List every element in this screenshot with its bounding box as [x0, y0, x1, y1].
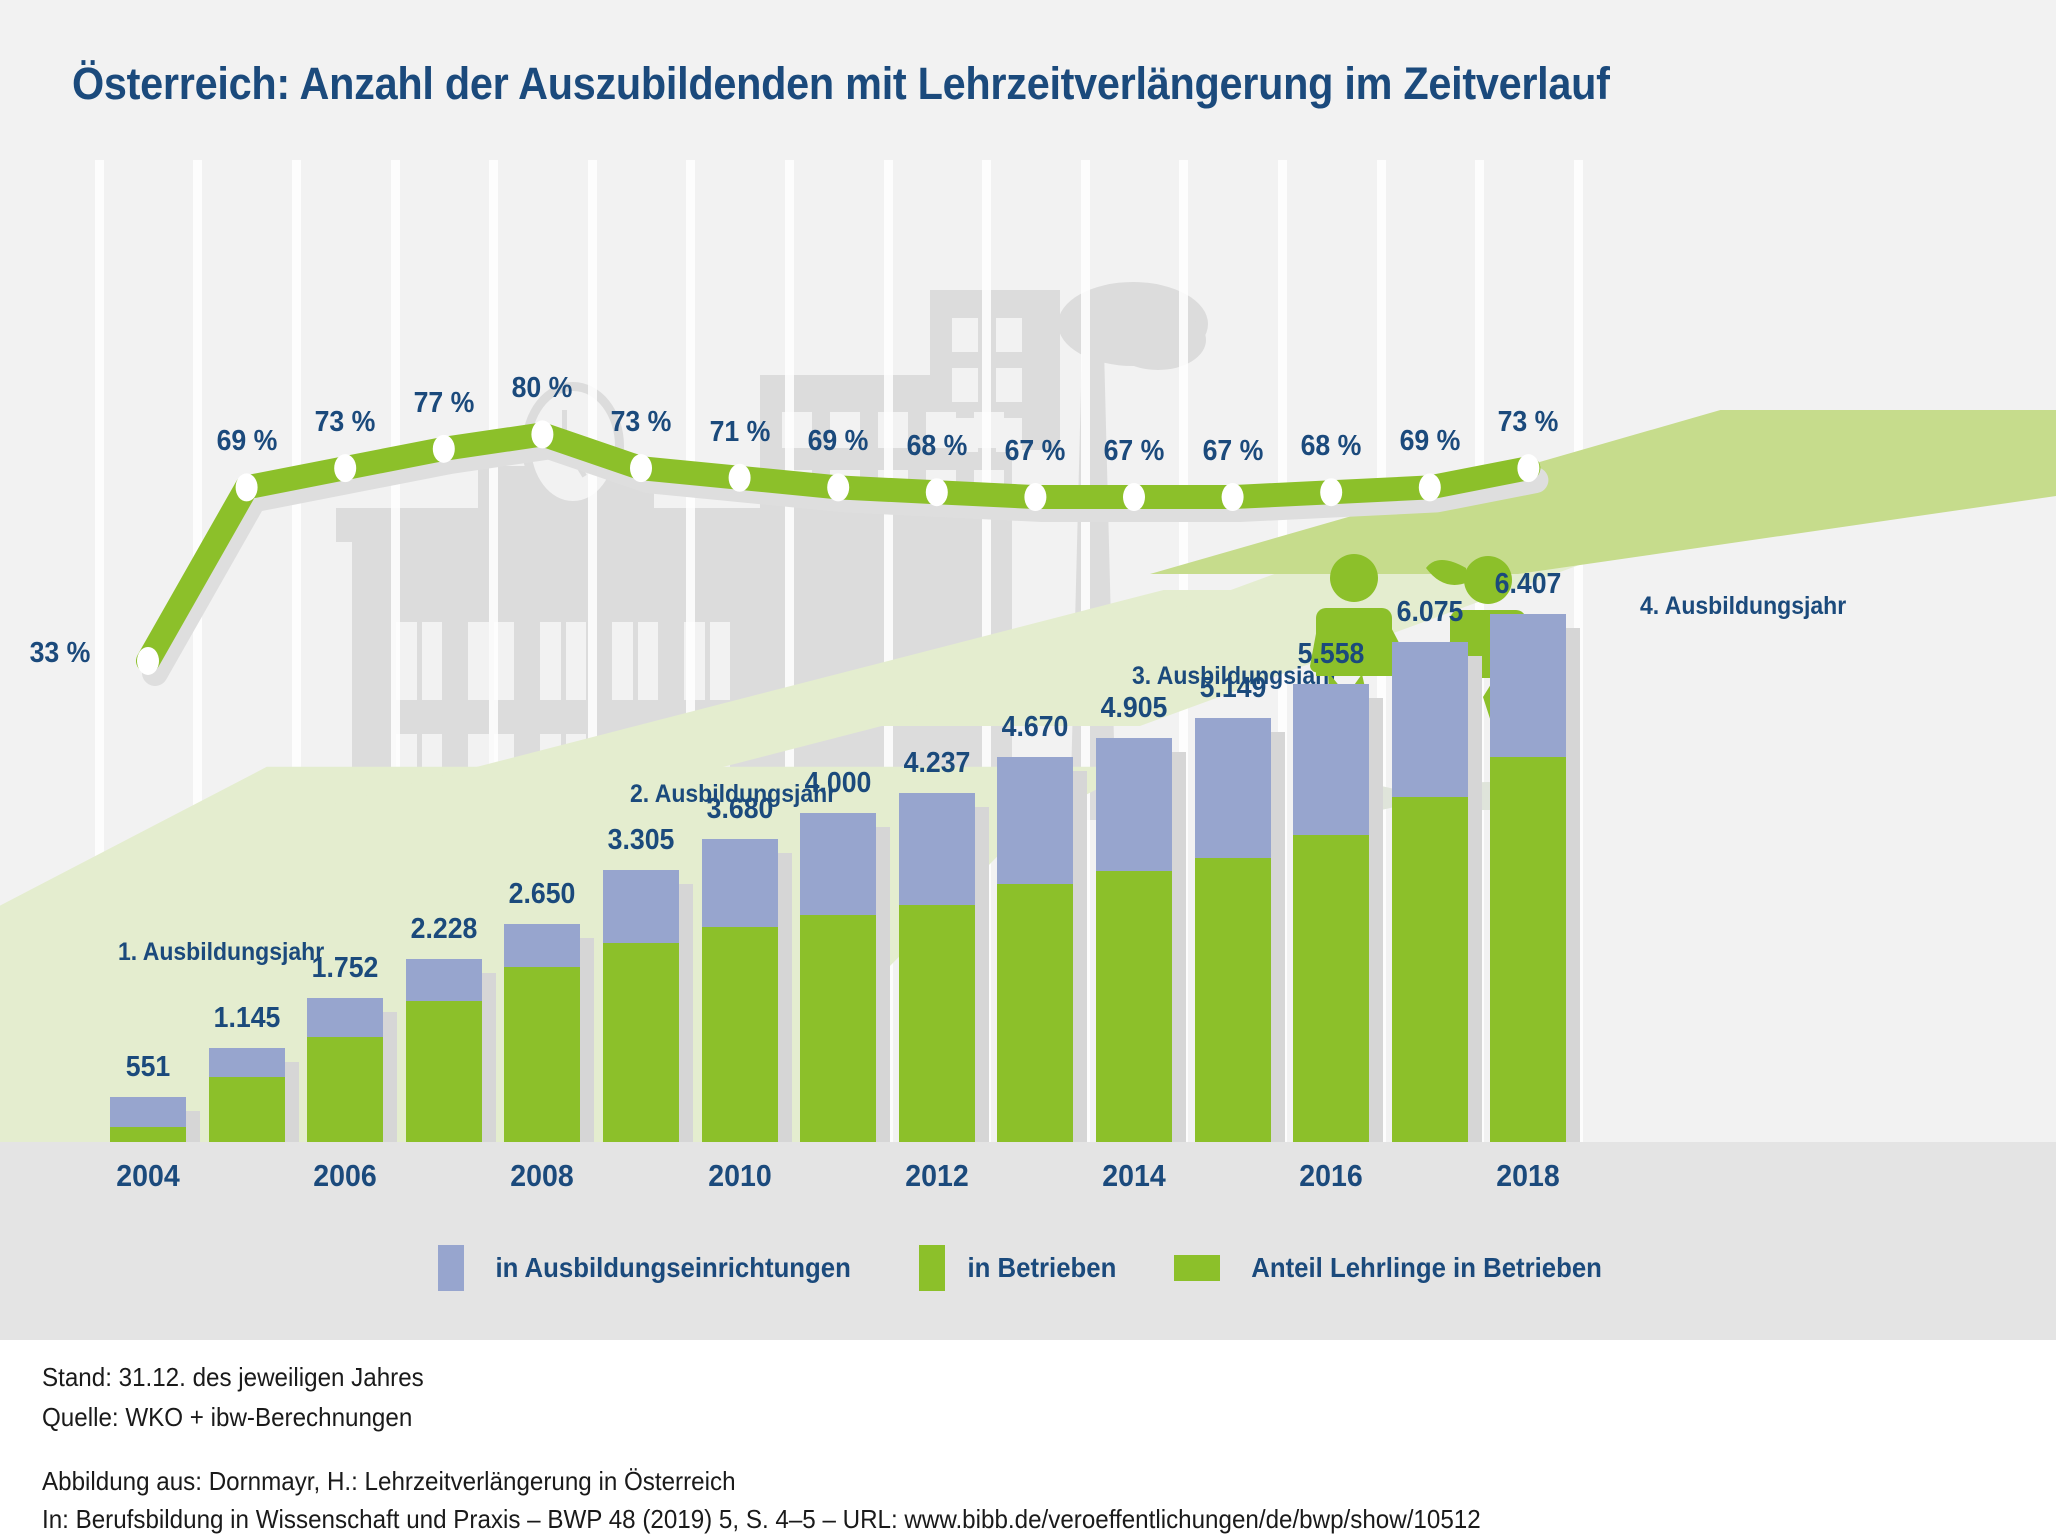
- bar-segment-in-betrieben: [504, 967, 580, 1142]
- bar-shadow: [1369, 698, 1383, 1142]
- bar-segment-in-ausbildungseinrichtungen: [1293, 684, 1369, 835]
- footer: Stand: 31.12. des jeweiligen Jahres Quel…: [0, 1340, 2056, 1539]
- bar-segment-in-ausbildungseinrichtungen: [1195, 718, 1271, 858]
- bar-column[interactable]: [1096, 738, 1172, 1142]
- bar-segment-in-betrieben: [209, 1077, 285, 1142]
- bar-column[interactable]: [1392, 642, 1468, 1142]
- bar-column[interactable]: [997, 757, 1073, 1142]
- legend-item[interactable]: in Ausbildungseinrichtungen: [438, 1245, 866, 1291]
- bar-segment-in-betrieben: [702, 927, 778, 1142]
- bar-shadow: [1172, 752, 1186, 1142]
- x-axis-tick-label: 2008: [450, 1158, 634, 1194]
- footer-line-source: Abbildung aus: Dornmayr, H.: Lehrzeitver…: [42, 1466, 736, 1497]
- bar-segment-in-betrieben: [1096, 871, 1172, 1142]
- percentage-label: 80 %: [469, 372, 616, 405]
- bar-column[interactable]: [800, 813, 876, 1142]
- bar-shadow: [876, 827, 890, 1142]
- bar-segment-in-ausbildungseinrichtungen: [1096, 738, 1172, 871]
- bar-shadow: [1073, 771, 1087, 1142]
- legend-swatch: [438, 1245, 464, 1291]
- bar-segment-in-ausbildungseinrichtungen: [110, 1097, 186, 1127]
- x-axis-tick-label: 2016: [1239, 1158, 1423, 1194]
- bar-column[interactable]: [307, 998, 383, 1142]
- bar-segment-in-ausbildungseinrichtungen: [406, 959, 482, 1001]
- bar-shadow: [186, 1111, 200, 1142]
- bar-shadow: [778, 853, 792, 1142]
- page-title: Österreich: Anzahl der Auszubildenden mi…: [72, 58, 1610, 110]
- chart-plot-area: 1. Ausbildungsjahr 2. Ausbildungsjahr 3.…: [0, 160, 2056, 1160]
- bar-segment-in-betrieben: [110, 1127, 186, 1142]
- x-axis-tick-label: 2010: [648, 1158, 832, 1194]
- bar-shadow: [285, 1062, 299, 1142]
- bar-segment-in-ausbildungseinrichtungen: [504, 924, 580, 968]
- bar-segment-in-ausbildungseinrichtungen: [209, 1048, 285, 1077]
- x-axis-tick-label: 2014: [1042, 1158, 1226, 1194]
- bar-segment-in-betrieben: [603, 943, 679, 1142]
- bar-column[interactable]: [209, 1048, 285, 1142]
- bar-shadow: [383, 1012, 397, 1142]
- legend-swatch: [1174, 1255, 1220, 1281]
- bar-segment-in-ausbildungseinrichtungen: [702, 839, 778, 927]
- bar-segment-in-betrieben: [800, 915, 876, 1142]
- bar-shadow: [1566, 628, 1580, 1142]
- band-label-4: 4. Ausbildungsjahr: [1640, 592, 1846, 621]
- chart-legend: in Ausbildungseinrichtungenin BetriebenA…: [0, 1238, 2056, 1298]
- bar-shadow: [482, 973, 496, 1142]
- bar-column[interactable]: [504, 924, 580, 1142]
- bar-column[interactable]: [1293, 684, 1369, 1142]
- legend-swatch: [919, 1245, 945, 1291]
- x-axis-tick-label: 2006: [253, 1158, 437, 1194]
- footer-line-url: In: Berufsbildung in Wissenschaft und Pr…: [42, 1504, 1481, 1535]
- x-axis-tick-label: 2012: [845, 1158, 1029, 1194]
- bar-segment-in-betrieben: [1293, 835, 1369, 1142]
- bar-shadow: [1468, 656, 1482, 1142]
- bar-segment-in-ausbildungseinrichtungen: [307, 998, 383, 1037]
- bar-column[interactable]: [702, 839, 778, 1142]
- bar-segment-in-betrieben: [307, 1037, 383, 1142]
- bar-segment-in-betrieben: [997, 884, 1073, 1142]
- bar-segment-in-ausbildungseinrichtungen: [800, 813, 876, 915]
- bar-shadow: [580, 938, 594, 1142]
- x-axis-tick-label: 2004: [56, 1158, 240, 1194]
- x-axis-tick-label: 2018: [1436, 1158, 1620, 1194]
- legend-label: Anteil Lehrlinge in Betrieben: [1252, 1252, 1603, 1284]
- bar-segment-in-ausbildungseinrichtungen: [899, 793, 975, 905]
- legend-item[interactable]: in Betrieben: [919, 1245, 1123, 1291]
- bar-segment-in-ausbildungseinrichtungen: [997, 757, 1073, 884]
- bar-segment-in-betrieben: [1195, 858, 1271, 1142]
- bar-column[interactable]: [899, 793, 975, 1142]
- bar-segment-in-ausbildungseinrichtungen: [1490, 614, 1566, 756]
- bar-value-label: 6.407: [1436, 568, 1620, 601]
- bar-column[interactable]: [603, 870, 679, 1142]
- percentage-label: 73 %: [1455, 406, 1602, 439]
- legend-label: in Ausbildungseinrichtungen: [496, 1252, 851, 1284]
- legend-label: in Betrieben: [967, 1252, 1116, 1284]
- bar-segment-in-ausbildungseinrichtungen: [1392, 642, 1468, 797]
- bar-column[interactable]: [110, 1097, 186, 1142]
- footer-line-quelle: Quelle: WKO + ibw-Berechnungen: [42, 1402, 412, 1433]
- bar-column[interactable]: [1195, 718, 1271, 1142]
- bar-segment-in-betrieben: [899, 905, 975, 1142]
- bar-segment-in-betrieben: [406, 1001, 482, 1142]
- legend-item[interactable]: Anteil Lehrlinge in Betrieben: [1174, 1252, 1617, 1284]
- bar-column[interactable]: [1490, 614, 1566, 1142]
- bar-segment-in-betrieben: [1392, 797, 1468, 1142]
- bar-segment-in-ausbildungseinrichtungen: [603, 870, 679, 943]
- footer-line-stand: Stand: 31.12. des jeweiligen Jahres: [42, 1362, 424, 1393]
- infographic-panel: Österreich: Anzahl der Auszubildenden mi…: [0, 0, 2056, 1340]
- bar-column[interactable]: [406, 959, 482, 1142]
- bar-segment-in-betrieben: [1490, 757, 1566, 1142]
- bar-shadow: [1271, 732, 1285, 1142]
- bar-shadow: [975, 807, 989, 1142]
- bar-shadow: [679, 884, 693, 1142]
- percentage-label: 33 %: [0, 637, 134, 670]
